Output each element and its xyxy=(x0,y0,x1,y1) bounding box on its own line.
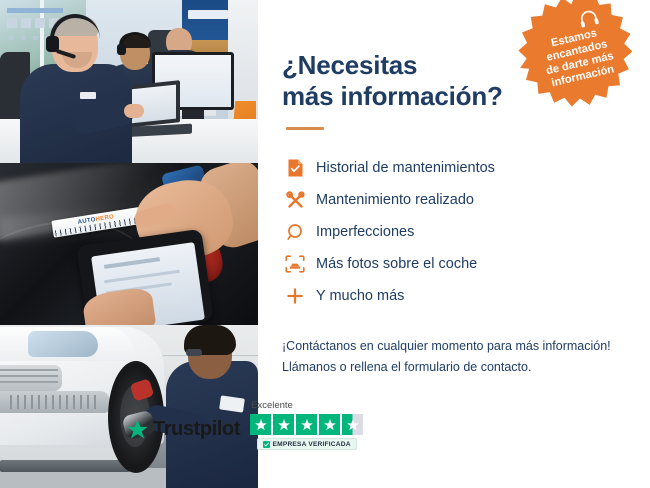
verified-check-icon xyxy=(263,441,270,448)
verified-label: EMPRESA VERIFICADA xyxy=(273,441,351,448)
second-agent-headset-cup xyxy=(117,44,126,55)
front-agent-hand xyxy=(124,104,144,118)
contact-text: ¡Contáctanos en cualquier momento para m… xyxy=(282,336,626,377)
star-filled xyxy=(273,414,294,435)
trustpilot-logo: Trustpilot xyxy=(126,418,240,450)
contact-line-1: ¡Contáctanos en cualquier momento para m… xyxy=(282,336,626,357)
feature-label: Historial de mantenimientos xyxy=(316,160,495,176)
promo-banner: AUTOHERO xyxy=(0,0,650,488)
promo-starburst-badge: Estamos encantados de darte más informac… xyxy=(514,0,640,114)
verified-company-badge: EMPRESA VERIFICADA xyxy=(257,438,357,450)
contact-line-2: Llámanos o rellena el formulario de cont… xyxy=(282,357,626,378)
tools-cross-icon xyxy=(282,191,308,210)
front-agent-name-badge xyxy=(80,92,96,99)
feature-label: Mantenimiento realizado xyxy=(316,192,474,208)
badge-text: Estamos encantados de darte más informac… xyxy=(528,22,630,94)
rating-label: Excelente xyxy=(251,400,293,411)
feature-list: Historial de mantenimientos Mantenimient… xyxy=(282,152,626,312)
call-center-agents-photo xyxy=(0,0,258,163)
monitor-ui-bar xyxy=(7,8,63,13)
car-headlight xyxy=(28,331,98,357)
car-grille-slats xyxy=(0,369,58,387)
feature-item[interactable]: Mantenimiento realizado xyxy=(282,184,626,216)
star-filled xyxy=(319,414,340,435)
feature-item[interactable]: Más fotos sobre el coche xyxy=(282,248,626,280)
feature-item[interactable]: Y mucho más xyxy=(282,280,626,312)
inspection-ruler-tablet-photo: AUTOHERO xyxy=(0,163,258,325)
car-lift-ramp xyxy=(0,460,130,472)
trustpilot-rating-block: Excelente xyxy=(250,400,363,450)
car-photo-focus-icon xyxy=(282,255,308,273)
trustpilot-wordmark: Trustpilot xyxy=(153,418,240,441)
feature-label: Y mucho más xyxy=(316,288,404,304)
title-divider xyxy=(286,127,324,130)
feature-item[interactable]: Historial de mantenimientos xyxy=(282,152,626,184)
headline-line-1: ¿Necesitas xyxy=(282,50,417,80)
headline-line-2: más información? xyxy=(282,81,503,111)
star-filled xyxy=(296,414,317,435)
magnifier-icon xyxy=(282,223,308,242)
safety-glasses xyxy=(186,349,202,356)
document-check-icon xyxy=(282,158,308,178)
feature-label: Imperfecciones xyxy=(316,224,414,240)
trustpilot-star-icon xyxy=(126,419,149,441)
car-lower-grille-mesh xyxy=(10,395,96,409)
plus-icon xyxy=(282,287,308,305)
star-filled xyxy=(250,414,271,435)
rating-stars xyxy=(250,414,363,435)
feature-label: Más fotos sobre el coche xyxy=(316,256,477,272)
trustpilot-widget[interactable]: Trustpilot Excelente xyxy=(126,400,363,450)
star-half xyxy=(342,414,363,435)
feature-item[interactable]: Imperfecciones xyxy=(282,216,626,248)
